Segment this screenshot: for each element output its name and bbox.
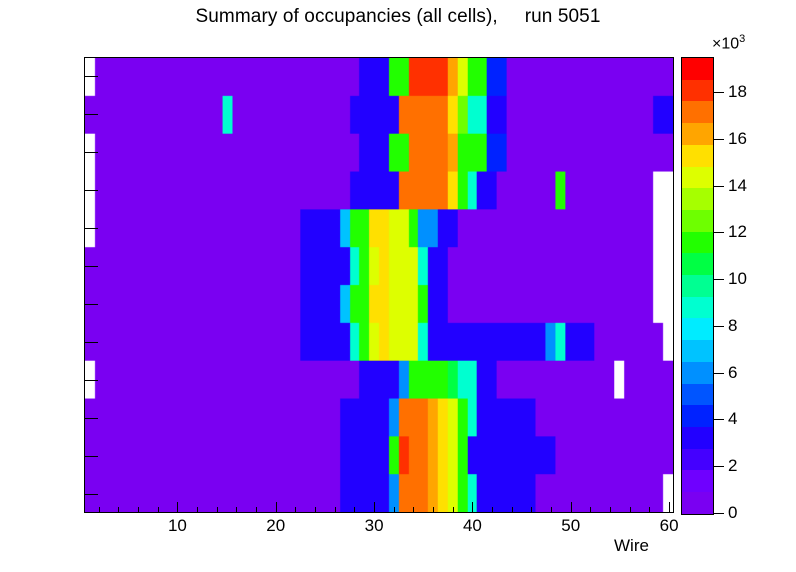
colorbar-swatch-12 <box>682 232 713 254</box>
x-tick-54 <box>610 507 611 513</box>
x-axis-title: Wire <box>614 536 649 556</box>
colorbar-tick-14 <box>714 186 724 187</box>
colorbar-swatch-13 <box>682 210 713 232</box>
y-tick-sl3l1 <box>84 190 98 191</box>
colorbar-tick-4 <box>714 419 724 420</box>
colorbar-swatch-2 <box>682 449 713 471</box>
colorbar-tick-12 <box>714 232 724 233</box>
colorbar-swatch-18 <box>682 101 713 123</box>
colorbar-tick-label-4: 4 <box>728 410 737 427</box>
colorbar-swatch-19 <box>682 80 713 102</box>
colorbar-swatch-9 <box>682 297 713 319</box>
colorbar-tick-label-2: 2 <box>728 457 737 474</box>
colorbar-tick-label-18: 18 <box>728 83 747 100</box>
x-tick-50 <box>571 502 572 513</box>
colorbar-tick-8 <box>714 326 724 327</box>
x-tick-24 <box>315 507 316 513</box>
x-tick-52 <box>590 507 591 513</box>
colorbar-exponent-base: ×10 <box>712 35 739 52</box>
y-tick-sl3l4 <box>84 76 98 77</box>
y-tick-sl1l3 <box>84 418 98 419</box>
x-axis-tick-label-20: 20 <box>246 516 306 536</box>
x-tick-60 <box>669 502 670 513</box>
heatmap-plot-area[interactable] <box>84 57 674 513</box>
x-tick-38 <box>453 507 454 513</box>
colorbar-tick-label-10: 10 <box>728 270 747 287</box>
x-tick-28 <box>354 507 355 513</box>
x-axis-tick-label-10: 10 <box>147 516 207 536</box>
colorbar-exponent: ×103 <box>712 33 745 53</box>
x-axis-tick-label-50: 50 <box>541 516 601 536</box>
x-tick-56 <box>630 507 631 513</box>
y-tick-sl1l4 <box>84 380 98 381</box>
colorbar-tick-18 <box>714 92 724 93</box>
root-canvas: Summary of occupancies (all cells), run … <box>0 0 796 572</box>
colorbar-swatch-17 <box>682 123 713 145</box>
page-title: Summary of occupancies (all cells), run … <box>0 6 796 28</box>
x-tick-8 <box>158 507 159 513</box>
colorbar-tick-label-16: 16 <box>728 130 747 147</box>
colorbar[interactable] <box>681 57 714 515</box>
colorbar-tick-label-14: 14 <box>728 177 747 194</box>
x-axis-tick-label-60: 60 <box>639 516 699 536</box>
y-tick-sl1l1 <box>84 494 98 495</box>
colorbar-tick-label-12: 12 <box>728 223 747 240</box>
colorbar-tick-label-8: 8 <box>728 317 737 334</box>
y-tick-sl2l4 <box>84 228 98 229</box>
x-tick-44 <box>512 507 513 513</box>
colorbar-swatch-6 <box>682 362 713 384</box>
colorbar-swatch-8 <box>682 318 713 340</box>
x-tick-22 <box>295 507 296 513</box>
colorbar-tick-label-6: 6 <box>728 364 737 381</box>
y-tick-sl3l2 <box>84 152 98 153</box>
colorbar-exponent-power: 3 <box>739 33 745 45</box>
y-tick-sl2l3 <box>84 266 98 267</box>
x-tick-58 <box>649 507 650 513</box>
x-tick-34 <box>413 507 414 513</box>
x-tick-16 <box>236 507 237 513</box>
x-tick-4 <box>118 507 119 513</box>
x-tick-10 <box>177 502 178 513</box>
x-axis-tick-label-30: 30 <box>344 516 404 536</box>
colorbar-tick-0 <box>714 513 724 514</box>
colorbar-swatch-15 <box>682 167 713 189</box>
heatmap-canvas[interactable] <box>85 58 673 512</box>
colorbar-swatch-5 <box>682 384 713 406</box>
y-tick-sl1l2 <box>84 456 98 457</box>
colorbar-swatch-4 <box>682 405 713 427</box>
colorbar-tick-10 <box>714 279 724 280</box>
x-tick-46 <box>531 507 532 513</box>
x-tick-42 <box>492 507 493 513</box>
colorbar-swatch-7 <box>682 340 713 362</box>
x-tick-14 <box>217 507 218 513</box>
x-tick-40 <box>472 502 473 513</box>
y-tick-sl2l1 <box>84 342 98 343</box>
colorbar-swatch-16 <box>682 145 713 167</box>
colorbar-tick-2 <box>714 466 724 467</box>
y-tick-sl3l3 <box>84 114 98 115</box>
x-tick-2 <box>99 507 100 513</box>
x-tick-48 <box>551 507 552 513</box>
colorbar-swatch-1 <box>682 470 713 492</box>
x-tick-20 <box>276 502 277 513</box>
colorbar-swatch-14 <box>682 188 713 210</box>
colorbar-swatch-3 <box>682 427 713 449</box>
colorbar-swatch-11 <box>682 253 713 275</box>
colorbar-tick-16 <box>714 139 724 140</box>
x-tick-32 <box>394 507 395 513</box>
x-tick-30 <box>374 502 375 513</box>
x-tick-6 <box>138 507 139 513</box>
x-tick-36 <box>433 507 434 513</box>
colorbar-tick-6 <box>714 373 724 374</box>
colorbar-swatch-0 <box>682 492 713 514</box>
colorbar-swatch-10 <box>682 275 713 297</box>
y-tick-sl2l2 <box>84 304 98 305</box>
x-tick-26 <box>335 507 336 513</box>
x-tick-18 <box>256 507 257 513</box>
colorbar-swatch-20 <box>682 58 713 80</box>
x-tick-12 <box>197 507 198 513</box>
colorbar-tick-label-0: 0 <box>728 504 737 521</box>
x-axis-tick-label-40: 40 <box>442 516 502 536</box>
